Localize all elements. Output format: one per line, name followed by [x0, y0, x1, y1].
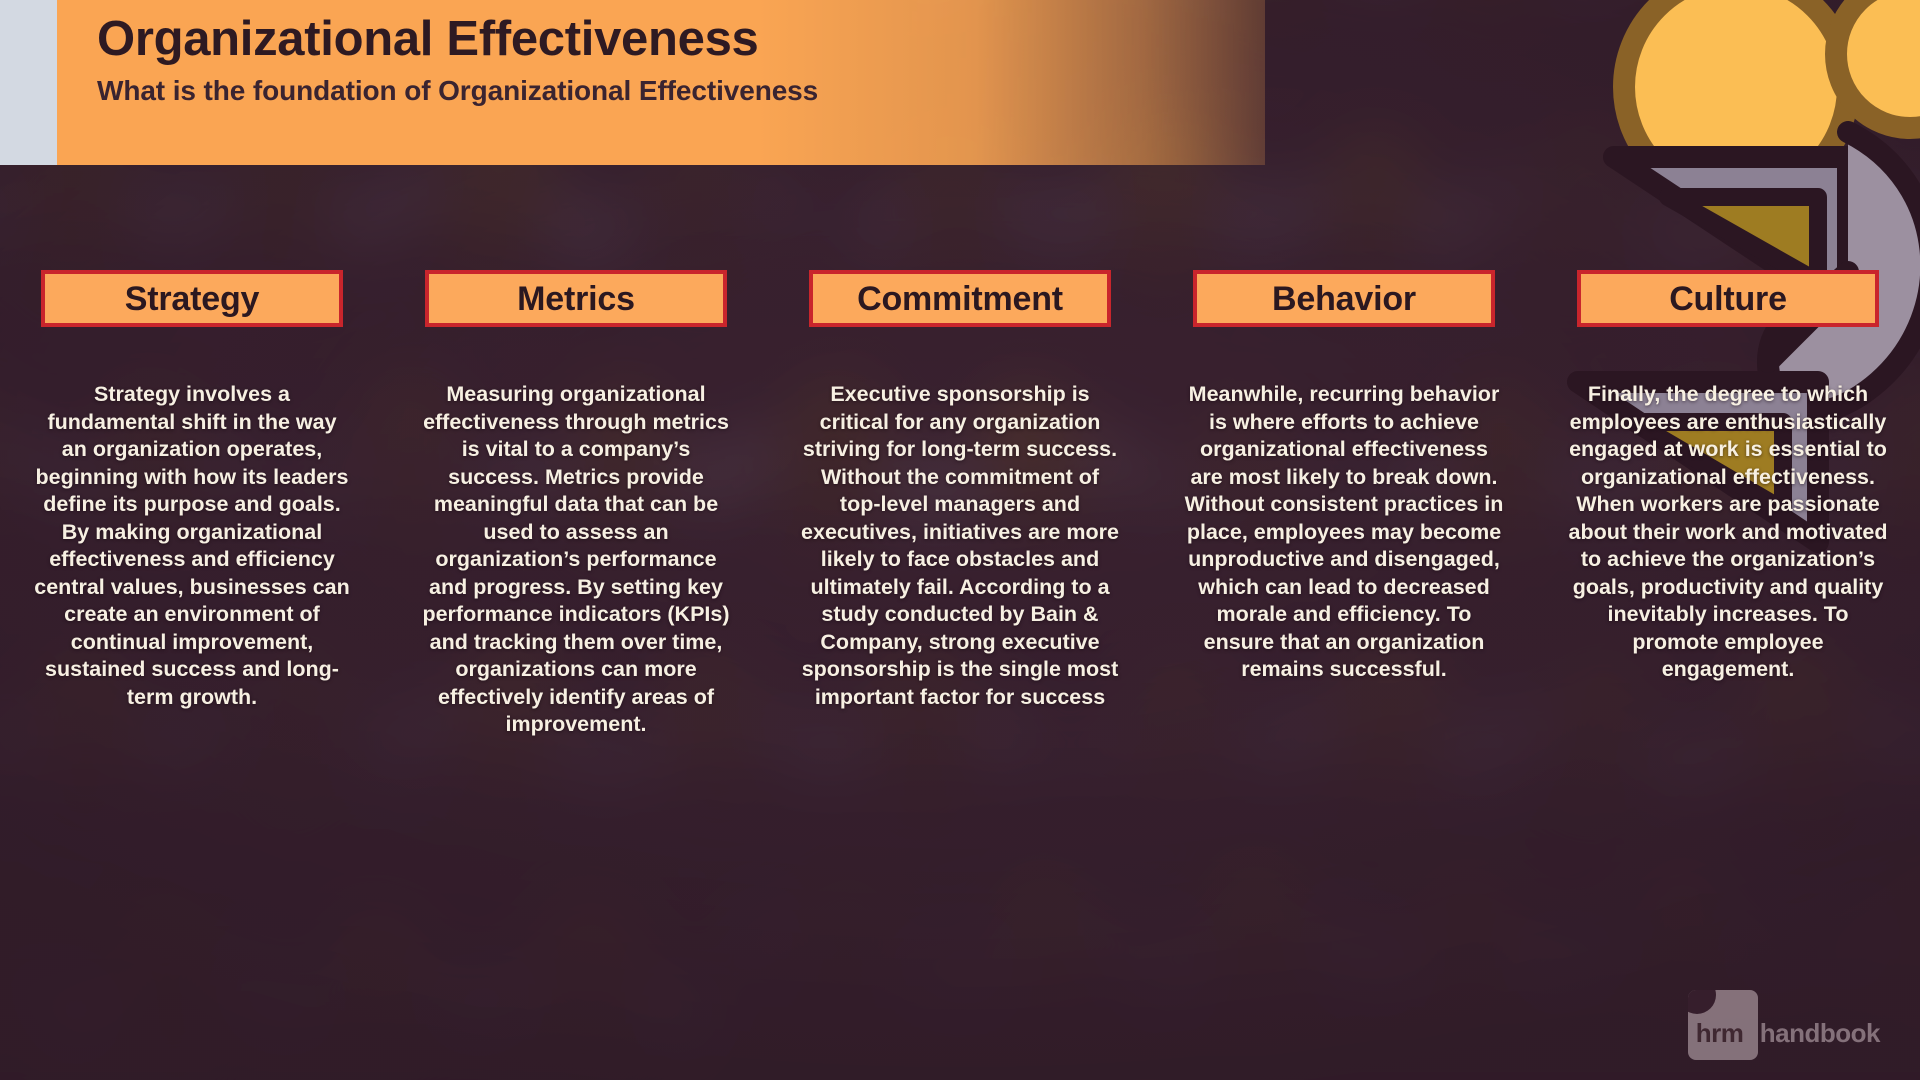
- page-title: Organizational Effectiveness: [97, 12, 1265, 67]
- column-metrics: Metrics Measuring organizational effecti…: [384, 270, 768, 739]
- column-title-strategy: Strategy: [125, 282, 259, 316]
- column-title-commitment: Commitment: [857, 282, 1063, 316]
- column-header-culture: Culture: [1577, 270, 1879, 327]
- column-body-culture: Finally, the degree to which employees a…: [1568, 381, 1888, 684]
- column-strategy: Strategy Strategy involves a fundamental…: [0, 270, 384, 711]
- column-header-metrics: Metrics: [425, 270, 727, 327]
- column-body-commitment: Executive sponsorship is critical for an…: [800, 381, 1120, 711]
- hrm-handbook-logo: hrm handbook: [1688, 990, 1880, 1060]
- page-header: Organizational Effectiveness What is the…: [0, 0, 1265, 165]
- column-body-metrics: Measuring organizational effectiveness t…: [416, 381, 736, 739]
- column-body-strategy: Strategy involves a fundamental shift in…: [32, 381, 352, 711]
- column-header-behavior: Behavior: [1193, 270, 1495, 327]
- header-band: Organizational Effectiveness What is the…: [57, 0, 1265, 165]
- pillar-columns: Strategy Strategy involves a fundamental…: [0, 270, 1920, 739]
- column-culture: Culture Finally, the degree to which emp…: [1536, 270, 1920, 684]
- header-left-strip: [0, 0, 57, 165]
- column-title-behavior: Behavior: [1272, 282, 1416, 316]
- column-behavior: Behavior Meanwhile, recurring behavior i…: [1152, 270, 1536, 684]
- column-title-culture: Culture: [1669, 282, 1787, 316]
- column-header-strategy: Strategy: [41, 270, 343, 327]
- logo-handbook-text: handbook: [1760, 1018, 1880, 1060]
- logo-page-icon: hrm: [1688, 990, 1758, 1060]
- page-subtitle: What is the foundation of Organizational…: [97, 75, 1265, 107]
- column-body-behavior: Meanwhile, recurring behavior is where e…: [1184, 381, 1504, 684]
- column-commitment: Commitment Executive sponsorship is crit…: [768, 270, 1152, 711]
- column-title-metrics: Metrics: [517, 282, 635, 316]
- logo-hrm-text: hrm: [1688, 1018, 1750, 1060]
- column-header-commitment: Commitment: [809, 270, 1111, 327]
